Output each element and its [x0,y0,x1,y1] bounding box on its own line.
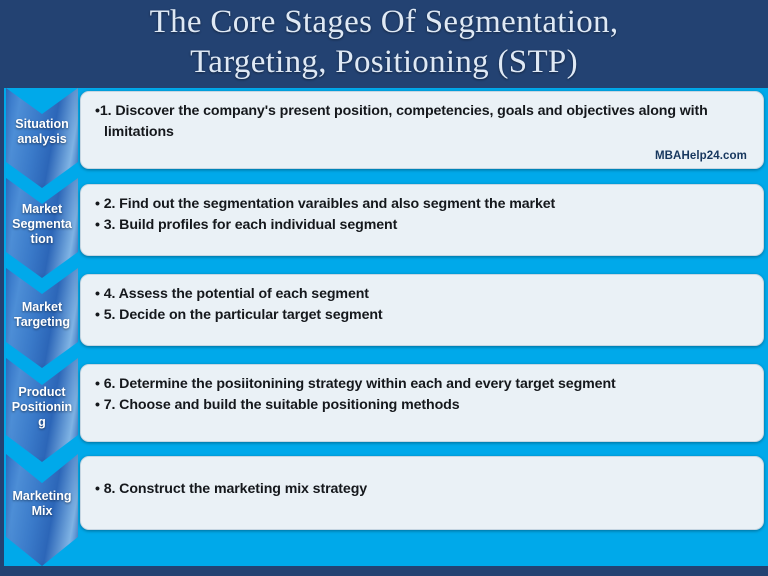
list-item: • 7. Choose and build the suitable posit… [95,395,749,416]
stage-chevron-column: Situation analysis Market Segmenta tion … [4,88,80,566]
watermark: MBAHelp24.com [655,150,747,162]
stage-label-line-1: Product [18,385,65,399]
page-title: The Core Stages Of Segmentation, Targeti… [0,2,768,82]
stage-label-line-1: Situation [15,117,68,131]
stage-label-line-3: g [38,415,46,429]
list-item: • 3. Build profiles for each individual … [95,215,749,236]
stage-chevron-product-positioning[interactable]: Product Positionin g [4,358,80,462]
stage-label-product-positioning: Product Positionin g [4,385,80,430]
stage-label-line-2: analysis [17,132,66,146]
list-item: •1. Discover the company's present posit… [95,101,749,143]
stage-label-line-1: Marketing [12,489,71,503]
stage-content-marketing-mix[interactable]: • 8. Construct the marketing mix strateg… [80,456,764,530]
stage-label-line-2: Mix [32,504,53,518]
bullet-text: •1. Discover the company's present posit… [95,103,708,119]
list-item: • 4. Assess the potential of each segmen… [95,284,749,305]
list-item: • 6. Determine the posiitonining strateg… [95,374,749,395]
stage-label-situation-analysis: Situation analysis [4,117,80,147]
list-item: • 5. Decide on the particular target seg… [95,305,749,326]
stage-chevron-marketing-mix[interactable]: Marketing Mix [4,454,80,566]
bottom-margin [0,566,768,576]
stage-content-product-positioning[interactable]: • 6. Determine the posiitonining strateg… [80,364,764,442]
page-title-line-2: Targeting, Positioning (STP) [0,42,768,82]
stage-label-line-3: tion [31,232,54,246]
diagram-body: Situation analysis Market Segmenta tion … [4,88,768,566]
stage-chevron-market-targeting[interactable]: Market Targeting [4,268,80,368]
bullet-text-wrap: limitations [95,122,749,143]
stage-content-market-targeting[interactable]: • 4. Assess the potential of each segmen… [80,274,764,346]
list-item: • 2. Find out the segmentation varaibles… [95,194,749,215]
stage-label-line-1: Market [22,202,62,216]
stage-label-line-2: Segmenta [12,217,72,231]
stage-label-line-2: Positionin [12,400,72,414]
list-item: • 8. Construct the marketing mix strateg… [95,479,749,500]
page-title-line-1: The Core Stages Of Segmentation, [0,2,768,42]
stage-label-marketing-mix: Marketing Mix [4,489,80,519]
stage-label-line-2: Targeting [14,315,70,329]
stage-content-market-segmentation[interactable]: • 2. Find out the segmentation varaibles… [80,184,764,256]
stage-content-situation-analysis[interactable]: •1. Discover the company's present posit… [80,91,764,169]
stage-label-market-targeting: Market Targeting [4,300,80,330]
stp-diagram-slide: The Core Stages Of Segmentation, Targeti… [0,0,768,576]
stage-label-line-1: Market [22,300,62,314]
stage-chevron-situation-analysis[interactable]: Situation analysis [4,88,80,188]
stage-label-market-segmentation: Market Segmenta tion [4,202,80,247]
stage-chevron-market-segmentation[interactable]: Market Segmenta tion [4,178,80,278]
